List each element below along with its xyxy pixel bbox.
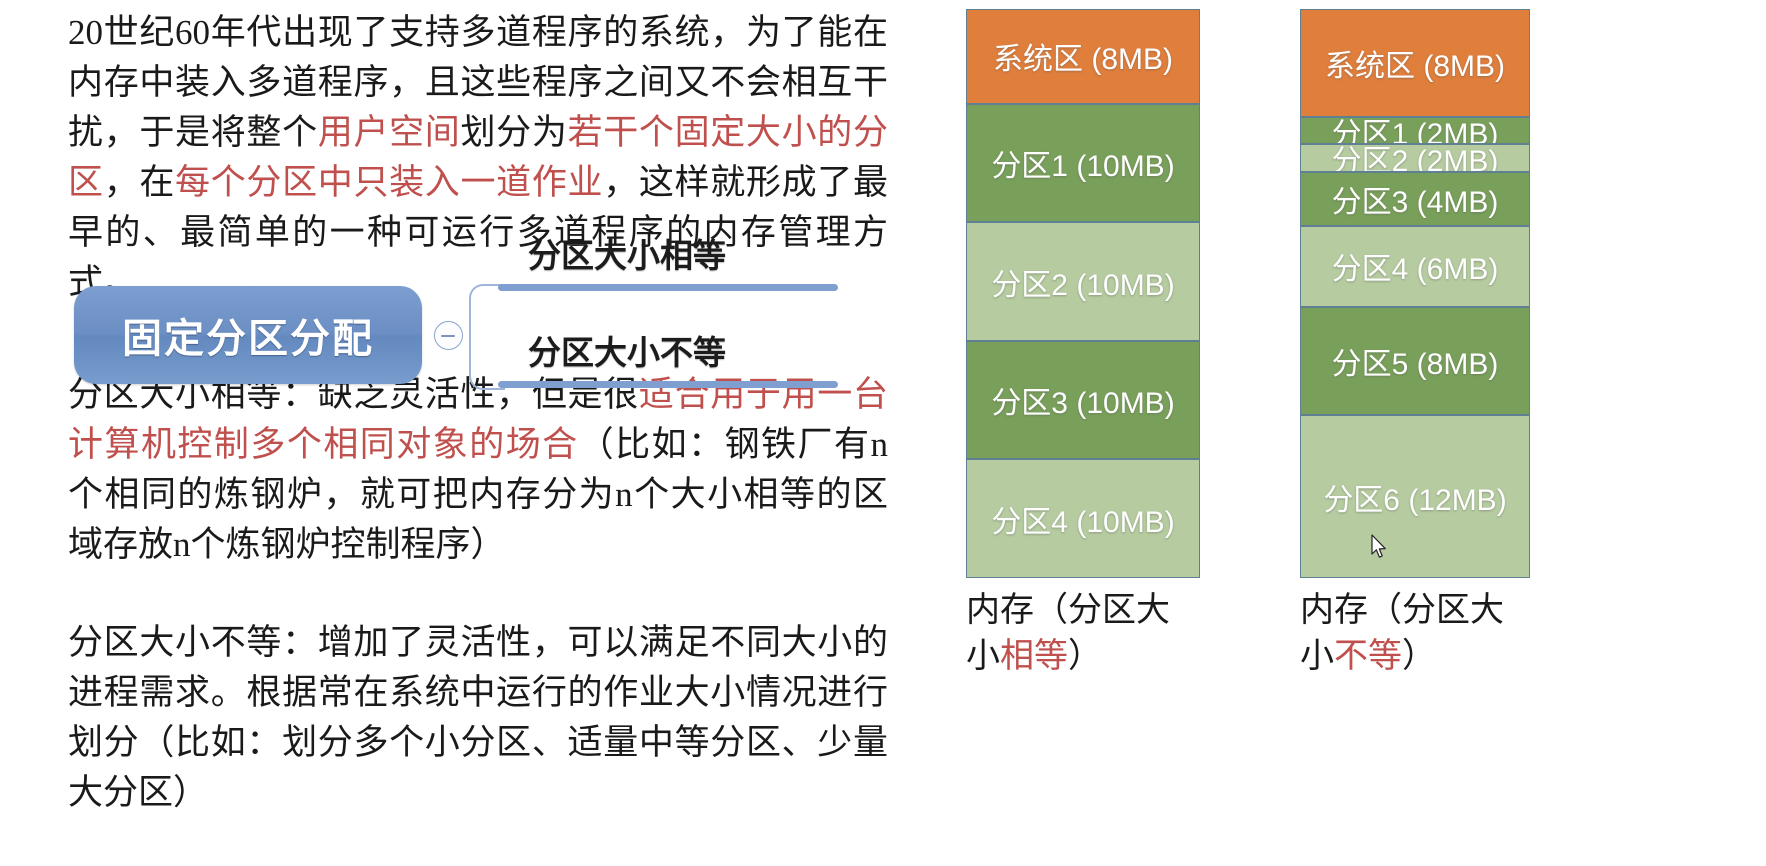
article-text-column: 20世纪60年代出现了支持多道程序的系统，为了能在内存中装入多道程序，且这些程序… bbox=[68, 8, 888, 818]
mindmap-root-label: 固定分区分配 bbox=[74, 306, 422, 364]
text-run: 分区大小不等：增加了灵活性，可以满足不同大小的进程需求。根据常在系统中运行的作业… bbox=[68, 623, 888, 812]
memory-caption-unequal: 内存（分区大小不等） bbox=[1300, 588, 1530, 680]
memory-block: 分区5 (8MB) bbox=[1300, 307, 1530, 415]
text-run: 内存（分区大 bbox=[1300, 592, 1504, 629]
highlighted-text-run: 每个分区中只装入一道作业 bbox=[175, 163, 603, 202]
memory-caption-equal: 内存（分区大小相等） bbox=[966, 588, 1200, 680]
mindmap-branch-equal[interactable]: 分区大小相等 bbox=[498, 284, 838, 291]
memory-block-label: 系统区 (8MB) bbox=[1325, 41, 1505, 85]
memory-block: 系统区 (8MB) bbox=[1300, 9, 1530, 117]
branch-bar bbox=[498, 381, 838, 388]
text-run: 小 bbox=[1300, 638, 1334, 675]
memory-block: 分区6 (12MB) bbox=[1300, 415, 1530, 578]
memory-block: 分区2 (10MB) bbox=[966, 222, 1200, 341]
memory-block: 分区4 (6MB) bbox=[1300, 226, 1530, 307]
highlighted-text-run: 不等 bbox=[1334, 638, 1402, 675]
mouse-pointer-icon bbox=[1371, 534, 1388, 560]
text-run: 内存（分区大 bbox=[966, 592, 1170, 629]
memory-block-label: 分区1 (10MB) bbox=[991, 141, 1174, 185]
text-run: 小 bbox=[966, 638, 1000, 675]
highlighted-text-run: 相等 bbox=[1000, 638, 1068, 675]
memory-block: 分区1 (2MB) bbox=[1300, 117, 1530, 144]
memory-block: 分区1 (10MB) bbox=[966, 104, 1200, 223]
memory-block-label: 分区6 (12MB) bbox=[1323, 475, 1506, 519]
memory-block-label: 系统区 (8MB) bbox=[993, 34, 1173, 78]
memory-block-label: 分区4 (6MB) bbox=[1332, 244, 1499, 288]
memory-block-label: 分区1 (2MB) bbox=[1332, 117, 1499, 144]
paragraph-unequal-partitions: 分区大小不等：增加了灵活性，可以满足不同大小的进程需求。根据常在系统中运行的作业… bbox=[68, 618, 888, 818]
mindmap-branch-label: 分区大小不等 bbox=[528, 326, 726, 374]
memory-layout-unequal: 系统区 (8MB)分区1 (2MB)分区2 (2MB)分区3 (4MB)分区4 … bbox=[1300, 9, 1530, 680]
memory-block: 分区3 (4MB) bbox=[1300, 172, 1530, 226]
text-run: ，在 bbox=[104, 163, 175, 202]
text-run: 于是将整个 bbox=[139, 113, 317, 152]
memory-block: 分区4 (10MB) bbox=[966, 459, 1200, 578]
memory-column-unequal: 系统区 (8MB)分区1 (2MB)分区2 (2MB)分区3 (4MB)分区4 … bbox=[1300, 9, 1530, 578]
text-run: 划分为 bbox=[460, 113, 567, 152]
memory-layout-equal: 系统区 (8MB)分区1 (10MB)分区2 (10MB)分区3 (10MB)分… bbox=[966, 9, 1200, 680]
mindmap-branch-label: 分区大小相等 bbox=[528, 229, 726, 277]
text-run: ） bbox=[1068, 638, 1102, 675]
mindmap-diagram: 固定分区分配 分区大小相等 分区大小不等 bbox=[70, 236, 860, 404]
mindmap-branch-unequal[interactable]: 分区大小不等 bbox=[498, 381, 838, 388]
minus-glyph bbox=[441, 335, 455, 337]
memory-column-equal: 系统区 (8MB)分区1 (10MB)分区2 (10MB)分区3 (10MB)分… bbox=[966, 9, 1200, 578]
memory-block-label: 分区3 (4MB) bbox=[1332, 177, 1499, 221]
memory-block: 分区3 (10MB) bbox=[966, 341, 1200, 460]
text-run: ） bbox=[1402, 638, 1436, 675]
memory-block-label: 分区3 (10MB) bbox=[991, 378, 1174, 422]
memory-block-label: 分区4 (10MB) bbox=[991, 497, 1174, 541]
memory-block-label: 分区2 (2MB) bbox=[1332, 144, 1499, 171]
branch-bar bbox=[498, 284, 838, 291]
collapse-minus-icon[interactable] bbox=[434, 321, 463, 350]
mindmap-connector bbox=[469, 284, 505, 390]
memory-block: 系统区 (8MB) bbox=[966, 9, 1200, 104]
memory-block-label: 分区5 (8MB) bbox=[1332, 339, 1499, 383]
mindmap-root-node[interactable]: 固定分区分配 bbox=[74, 286, 422, 384]
memory-block: 分区2 (2MB) bbox=[1300, 144, 1530, 171]
memory-block-label: 分区2 (10MB) bbox=[991, 260, 1174, 304]
highlighted-text-run: 用户空间 bbox=[318, 113, 461, 152]
